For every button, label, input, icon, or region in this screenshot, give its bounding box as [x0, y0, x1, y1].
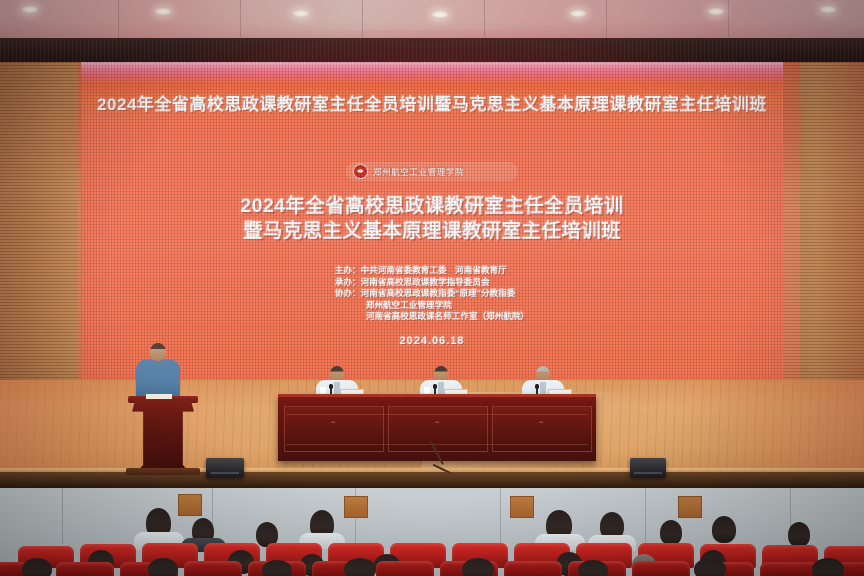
auditorium-seat	[760, 562, 818, 576]
audience-head	[712, 516, 736, 543]
ceiling-downlight	[820, 6, 836, 13]
auditorium-seat	[184, 561, 242, 576]
ceiling-downlight	[570, 10, 586, 17]
credit-line: 河南省高校思政课名师工作室（郑州航院）	[335, 311, 529, 323]
led-content: 郑州航空工业管理学院 2024年全省高校思政课教研室主任全员培训 暨马克思主义基…	[81, 124, 783, 380]
audience-head	[694, 558, 726, 576]
ceiling-downlight	[155, 8, 171, 15]
led-title-line-1: 2024年全省高校思政课教研室主任全员培训	[81, 194, 783, 219]
ceiling-downlight	[22, 6, 38, 13]
led-title-line-2: 暨马克思主义基本原理课教研室主任培训班	[81, 219, 783, 244]
university-emblem-icon	[353, 164, 368, 179]
auditorium-seat	[376, 561, 434, 576]
auditorium-seat	[504, 561, 562, 576]
audience-head	[462, 558, 494, 576]
audience-head	[148, 558, 178, 576]
credit-value: 河南省高校思政课名师工作室（郑州航院）	[366, 311, 529, 321]
audience-head	[812, 558, 844, 576]
led-backdrop-screen: 2024年全省高校思政课教研室主任全员培训暨马克思主义基本原理课教研室主任培训班…	[81, 62, 783, 380]
wall-acoustic-panel	[344, 496, 368, 518]
credit-line: 协办：河南省高校思政课教指委“原理”分教指委	[335, 288, 529, 300]
audience-head	[344, 558, 376, 576]
credit-label: 承办：	[335, 277, 361, 287]
credit-value: 中共河南省委教育工委 河南省教育厅	[361, 265, 507, 275]
stage-monitor-speaker	[630, 458, 666, 478]
led-header-banner: 2024年全省高校思政课教研室主任全员培训暨马克思主义基本原理课教研室主任培训班	[81, 82, 783, 122]
credit-line: 郑州航空工业管理学院	[335, 300, 529, 312]
stage-monitor-speaker	[206, 458, 244, 478]
credit-line: 主办：中共河南省委教育工委 河南省教育厅	[335, 265, 529, 277]
standing-speaker-head	[150, 343, 166, 361]
water-cup	[424, 387, 430, 394]
water-cup	[320, 387, 326, 394]
led-date-text: 2024.06.18	[81, 335, 783, 347]
auditorium-seat	[56, 562, 114, 576]
credit-value: 河南省高校思政课教学指导委员会	[361, 277, 490, 287]
ceiling-downlight	[432, 11, 448, 18]
wall-acoustic-panel	[678, 496, 702, 518]
audience-head	[788, 522, 810, 547]
audience-head	[262, 560, 292, 576]
led-top-glow-band	[81, 62, 783, 82]
university-logo: 郑州航空工业管理学院	[346, 162, 518, 181]
university-name-text: 郑州航空工业管理学院	[373, 166, 464, 178]
podium-papers	[146, 394, 172, 399]
ceiling-downlight	[293, 10, 309, 17]
banner-title-text: 2024年全省高校思政课教研室主任全员培训暨马克思主义基本原理课教研室主任培训班	[97, 90, 767, 115]
credit-label: 协办：	[335, 288, 361, 298]
conference-photo-scene: 2024年全省高校思政课教研室主任全员培训暨马克思主义基本原理课教研室主任培训班…	[0, 0, 864, 576]
audience-head	[22, 558, 52, 576]
podium-base	[126, 468, 200, 475]
auditorium-seat	[632, 561, 690, 576]
credit-line: 承办：河南省高校思政课教学指导委员会	[335, 277, 529, 289]
auditorium-seating-area	[0, 488, 864, 576]
credit-value: 郑州航空工业管理学院	[366, 300, 452, 310]
wall-acoustic-panel	[510, 496, 534, 518]
audience-head	[660, 520, 682, 545]
credit-label: 主办：	[335, 265, 361, 275]
ceiling-downlight	[708, 8, 724, 15]
wall-acoustic-panel	[178, 494, 202, 516]
credit-value: 河南省高校思政课教指委“原理”分教指委	[361, 288, 516, 298]
led-credits-block: 主办：中共河南省委教育工委 河南省教育厅 承办：河南省高校思政课教学指导委员会 …	[335, 265, 529, 323]
audience-head	[578, 560, 608, 576]
ceiling-shadow-slot	[0, 38, 864, 62]
ceiling	[0, 0, 864, 38]
